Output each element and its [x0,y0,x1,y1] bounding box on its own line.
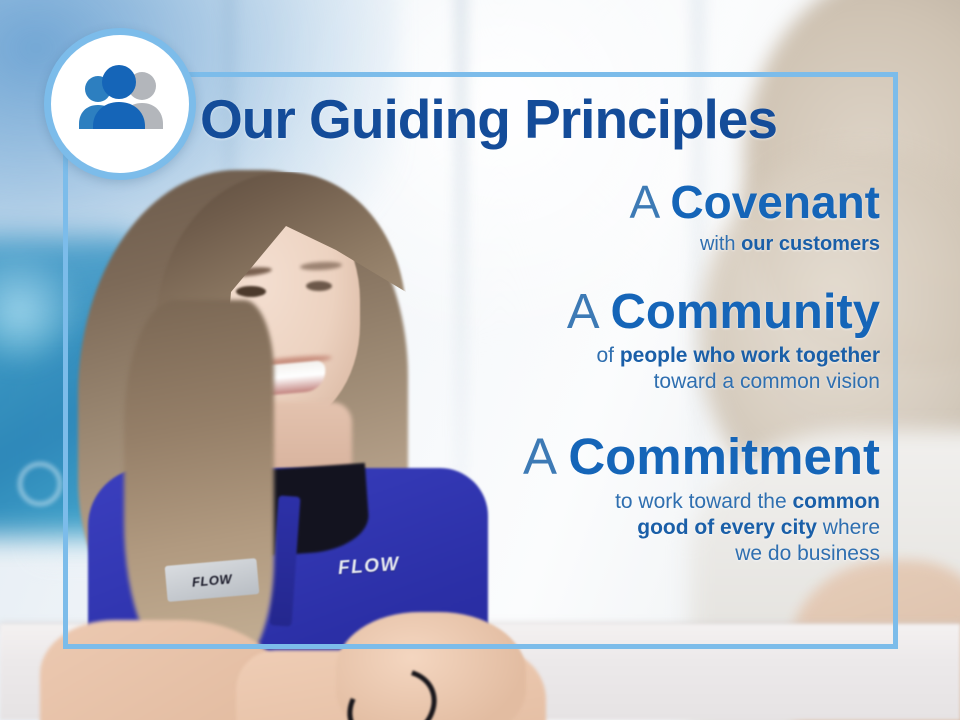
principle-word: Commitment [568,428,880,485]
principle-item: A Community of people who work togethert… [300,286,880,395]
principle-title: A Commitment [300,429,880,484]
principle-lead: A [629,176,657,228]
eye [236,286,266,297]
principle-word: Covenant [670,176,880,228]
principle-subtext: of people who work togethertoward a comm… [300,343,880,395]
people-group-icon [68,65,172,143]
principle-item: A Commitment to work toward the commongo… [300,429,880,566]
principle-lead: A [567,285,597,339]
page-title: Our Guiding Principles [200,92,900,147]
principle-lead: A [523,428,554,485]
principle-subtext: to work toward the commongood of every c… [300,489,880,567]
people-group-icon-badge [44,28,196,180]
hair-side [124,300,274,670]
principles-list: A Covenant with our customers A Communit… [300,178,880,583]
principle-subtext: with our customers [300,232,880,257]
principle-word: Community [611,285,881,339]
principle-title: A Community [300,286,880,339]
principle-title: A Covenant [300,178,880,228]
name-badge-label: FLOW [191,571,232,589]
blurred-brand-emblem [18,462,62,506]
guiding-principles-banner: FLOW FLOW Our Guiding Principles A C [0,0,960,720]
principle-item: A Covenant with our customers [300,178,880,256]
